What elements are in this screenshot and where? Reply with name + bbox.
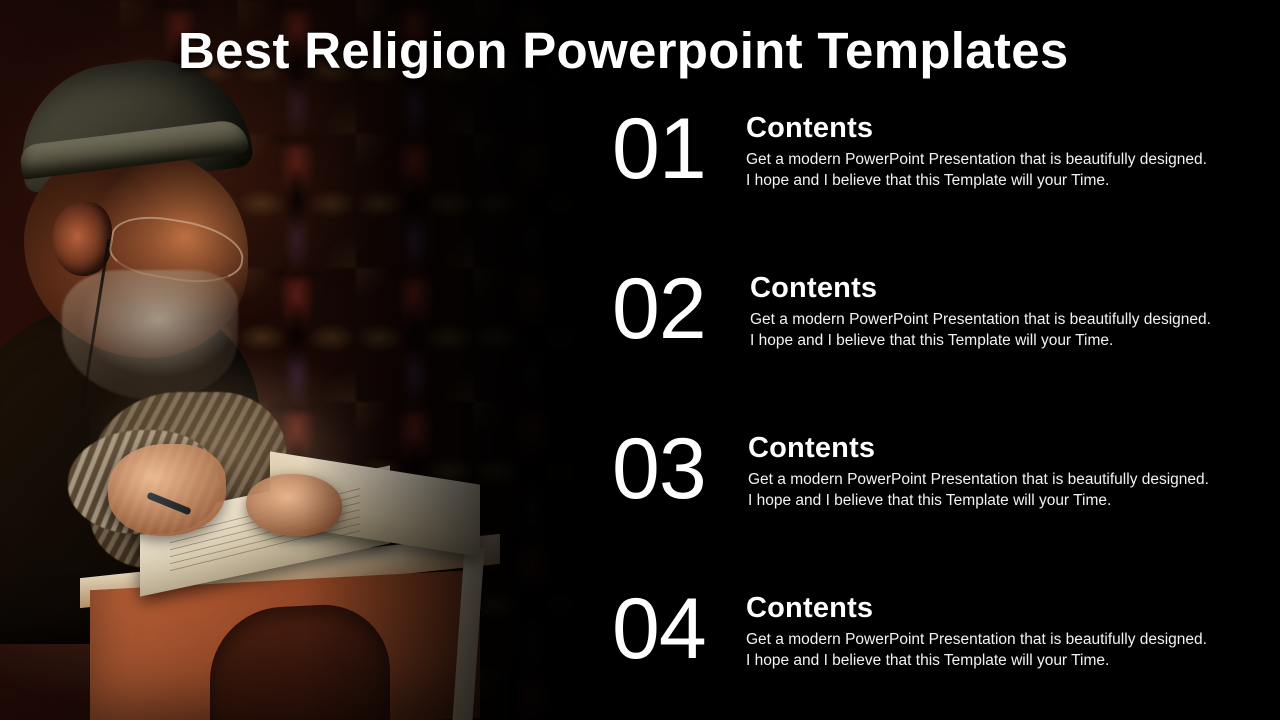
block-number-01: 01 <box>612 106 732 192</box>
content-block-01[interactable]: 01 Contents Get a modern PowerPoint Pres… <box>612 112 1252 222</box>
content-blocks-container: 01 Contents Get a modern PowerPoint Pres… <box>0 0 1280 720</box>
block-body-01: Get a modern PowerPoint Presentation tha… <box>746 150 1236 192</box>
block-body-line2-04: I hope and I believe that this Template … <box>746 651 1236 672</box>
block-body-02: Get a modern PowerPoint Presentation tha… <box>750 310 1240 352</box>
content-block-03[interactable]: 03 Contents Get a modern PowerPoint Pres… <box>612 432 1252 542</box>
block-body-line2-02: I hope and I believe that this Template … <box>750 331 1240 352</box>
block-number-03: 03 <box>612 426 732 512</box>
presentation-slide: Best Religion Powerpoint Templates 01 Co… <box>0 0 1280 720</box>
block-heading-02: Contents <box>750 272 1250 304</box>
block-body-03: Get a modern PowerPoint Presentation tha… <box>748 470 1238 512</box>
block-body-line2-03: I hope and I believe that this Template … <box>748 491 1238 512</box>
block-body-line1-01: Get a modern PowerPoint Presentation tha… <box>746 150 1236 171</box>
content-block-02[interactable]: 02 Contents Get a modern PowerPoint Pres… <box>612 272 1252 382</box>
block-heading-04: Contents <box>746 592 1246 624</box>
block-number-02: 02 <box>612 266 732 352</box>
content-block-04[interactable]: 04 Contents Get a modern PowerPoint Pres… <box>612 592 1252 702</box>
block-body-04: Get a modern PowerPoint Presentation tha… <box>746 630 1236 672</box>
block-text-04: Contents Get a modern PowerPoint Present… <box>746 592 1246 672</box>
block-heading-03: Contents <box>748 432 1248 464</box>
block-text-03: Contents Get a modern PowerPoint Present… <box>748 432 1248 512</box>
block-heading-01: Contents <box>746 112 1246 144</box>
block-body-line1-02: Get a modern PowerPoint Presentation tha… <box>750 310 1240 331</box>
block-body-line2-01: I hope and I believe that this Template … <box>746 171 1236 192</box>
block-body-line1-04: Get a modern PowerPoint Presentation tha… <box>746 630 1236 651</box>
block-text-02: Contents Get a modern PowerPoint Present… <box>750 272 1250 352</box>
block-text-01: Contents Get a modern PowerPoint Present… <box>746 112 1246 192</box>
block-body-line1-03: Get a modern PowerPoint Presentation tha… <box>748 470 1238 491</box>
block-number-04: 04 <box>612 586 732 672</box>
